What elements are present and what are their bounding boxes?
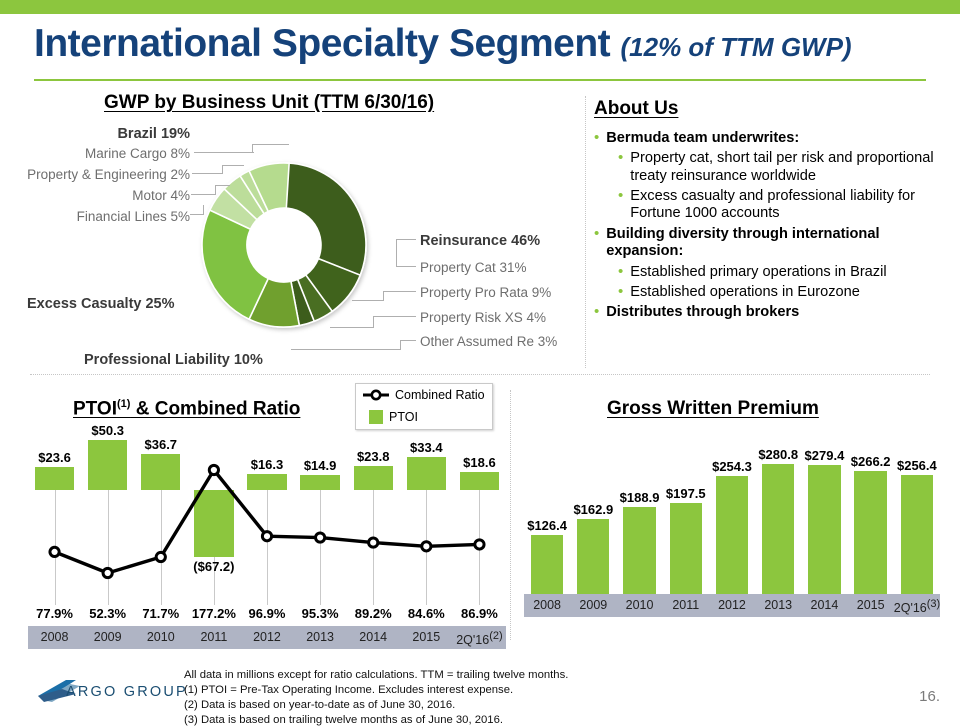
combined-ratio-point bbox=[422, 542, 431, 551]
gwp-bar bbox=[808, 465, 840, 594]
gwp-chart-plot: $126.4$162.9$188.9$197.5$254.3$280.8$279… bbox=[524, 430, 940, 640]
about-bullet-1: •Property cat, short tail per risk and p… bbox=[618, 150, 946, 185]
legend-label-ptoi: PTOI bbox=[389, 410, 418, 424]
combined-ratio-point bbox=[103, 568, 112, 577]
about-bullet-text: Property cat, short tail per risk and pr… bbox=[630, 150, 946, 185]
donut-label-brazil: Brazil 19% bbox=[0, 126, 190, 142]
bullet-dot-icon: • bbox=[594, 304, 599, 321]
ptoi-axis-label: 2013 bbox=[294, 630, 347, 644]
horizontal-divider bbox=[30, 374, 930, 375]
footer-note-1: (1) PTOI = Pre-Tax Operating Income. Exc… bbox=[184, 683, 568, 698]
gwp-axis-label: 2015 bbox=[848, 598, 894, 612]
ptoi-title-plain: PTOI bbox=[73, 398, 117, 419]
about-bullet-3: •Building diversity through internationa… bbox=[594, 226, 946, 261]
vertical-divider-top bbox=[585, 96, 586, 368]
about-us-panel: About Us •Bermuda team underwrites:•Prop… bbox=[594, 98, 946, 325]
bullet-dot-icon: • bbox=[594, 226, 599, 261]
leader-line-other-h2 bbox=[291, 349, 401, 350]
about-bullet-2: •Excess casualty and professional liabil… bbox=[618, 188, 946, 223]
donut-label-marine-cargo: Marine Cargo 8% bbox=[0, 146, 190, 161]
title-underline-rule bbox=[34, 79, 926, 81]
combined-ratio-value-label: 52.3% bbox=[81, 606, 134, 621]
combined-ratio-point bbox=[209, 465, 218, 474]
slide: International Specialty Segment (12% of … bbox=[0, 0, 960, 720]
about-bullet-text: Established operations in Eurozone bbox=[630, 284, 860, 301]
leader-line-reins-v bbox=[396, 239, 398, 267]
leader-line-prorata-v bbox=[383, 291, 385, 300]
page-title-sub: (12% of TTM GWP) bbox=[620, 32, 851, 62]
gwp-chart-title: Gross Written Premium bbox=[607, 398, 819, 420]
bullet-dot-icon: • bbox=[618, 284, 623, 301]
combined-ratio-point bbox=[316, 533, 325, 542]
page-number: 16. bbox=[919, 688, 940, 705]
about-bullet-0: •Bermuda team underwrites: bbox=[594, 130, 946, 147]
donut-label-excess-casualty: Excess Casualty 25% bbox=[27, 296, 175, 312]
about-bullet-text: Excess casualty and professional liabili… bbox=[630, 188, 946, 223]
combined-ratio-value-label: 86.9% bbox=[453, 606, 506, 621]
donut-label-professional-liability: Professional Liability 10% bbox=[84, 352, 263, 368]
gwp-bar bbox=[623, 507, 655, 594]
donut-label-property-engineering: Property & Engineering 2% bbox=[0, 167, 190, 182]
bullet-dot-icon: • bbox=[618, 264, 623, 281]
donut-label-property-pro-rata: Property Pro Rata 9% bbox=[420, 285, 551, 300]
legend-swatch-ptoi bbox=[369, 410, 383, 424]
leader-line-prop-eng-h2 bbox=[222, 165, 244, 166]
leader-line-prorata-h2 bbox=[352, 300, 384, 301]
gwp-bar bbox=[670, 503, 702, 594]
leader-line-riskxs-h2 bbox=[330, 327, 374, 328]
ptoi-chart-title: PTOI(1) & Combined Ratio bbox=[73, 398, 300, 420]
legend-row-combined-ratio: Combined Ratio bbox=[356, 384, 492, 406]
page-title-main: International Specialty Segment bbox=[34, 22, 620, 65]
about-bullet-text: Bermuda team underwrites: bbox=[606, 130, 799, 147]
donut-chart-title: GWP by Business Unit (TTM 6/30/16) bbox=[104, 92, 434, 114]
leader-line-marine bbox=[194, 152, 254, 153]
gwp-axis-label: 2012 bbox=[709, 598, 755, 612]
bullet-dot-icon: • bbox=[618, 150, 623, 185]
footer-note-3: (3) Data is based on trailing twelve mon… bbox=[184, 713, 568, 728]
line-marker-icon bbox=[363, 389, 389, 401]
combined-ratio-value-label: 89.2% bbox=[347, 606, 400, 621]
about-bullet-text: Building diversity through international… bbox=[606, 226, 946, 261]
donut-svg bbox=[186, 145, 386, 350]
top-green-band bbox=[0, 0, 960, 14]
leader-line-motor-v bbox=[215, 185, 217, 195]
leader-line-motor-h2 bbox=[215, 185, 230, 186]
combined-ratio-value-label: 84.6% bbox=[400, 606, 453, 621]
leader-line-financial bbox=[190, 214, 204, 215]
ptoi-title-sup: (1) bbox=[117, 398, 130, 410]
leader-line-riskxs-h bbox=[373, 316, 416, 317]
about-bullet-6: •Distributes through brokers bbox=[594, 304, 946, 321]
ptoi-axis-label: 2015 bbox=[400, 630, 453, 644]
combined-ratio-point bbox=[262, 532, 271, 541]
gwp-bar bbox=[531, 535, 563, 594]
gwp-bar bbox=[901, 475, 933, 594]
combined-ratio-line bbox=[28, 430, 506, 610]
about-bullet-4: •Established primary operations in Brazi… bbox=[618, 264, 946, 281]
gwp-bar bbox=[762, 464, 794, 594]
gwp-axis-label: 2013 bbox=[755, 598, 801, 612]
gwp-bar bbox=[716, 476, 748, 594]
about-us-list: •Bermuda team underwrites:•Property cat,… bbox=[594, 130, 946, 322]
leader-line-marine-h2 bbox=[252, 144, 289, 145]
combined-ratio-value-label: 71.7% bbox=[134, 606, 187, 621]
leader-line-propcat-h bbox=[396, 266, 416, 267]
gwp-axis-label: 2009 bbox=[570, 598, 616, 612]
combined-ratio-point bbox=[50, 547, 59, 556]
about-bullet-5: •Established operations in Eurozone bbox=[618, 284, 946, 301]
gwp-axis-label: 2Q'16(3) bbox=[894, 598, 940, 615]
bullet-dot-icon: • bbox=[594, 130, 599, 147]
ptoi-axis-label: 2012 bbox=[240, 630, 293, 644]
donut-label-financial-lines: Financial Lines 5% bbox=[0, 209, 190, 224]
leader-line-motor bbox=[191, 194, 216, 195]
combined-ratio-point bbox=[156, 552, 165, 561]
ptoi-axis-label: 2008 bbox=[28, 630, 81, 644]
ptoi-axis-label: 2011 bbox=[187, 630, 240, 644]
footer-notes: All data in millions except for ratio ca… bbox=[184, 668, 568, 728]
vertical-divider-bottom bbox=[510, 390, 511, 640]
leader-line-other-h bbox=[400, 340, 416, 341]
gwp-bar-value-label: $279.4 bbox=[801, 448, 847, 463]
about-us-heading: About Us bbox=[594, 98, 946, 120]
gwp-bar-value-label: $256.4 bbox=[894, 458, 940, 473]
leader-line-marine-v bbox=[252, 144, 254, 153]
gwp-axis-label: 2011 bbox=[663, 598, 709, 612]
footer-note-0: All data in millions except for ratio ca… bbox=[184, 668, 568, 683]
about-bullet-text: Distributes through brokers bbox=[606, 304, 799, 321]
donut-label-motor: Motor 4% bbox=[0, 188, 190, 203]
gwp-donut-chart bbox=[186, 145, 386, 350]
combined-ratio-point bbox=[369, 538, 378, 547]
combined-ratio-value-label: 95.3% bbox=[294, 606, 347, 621]
leader-line-other-v bbox=[400, 340, 402, 349]
ptoi-axis-label: 2010 bbox=[134, 630, 187, 644]
gwp-bar-value-label: $254.3 bbox=[709, 459, 755, 474]
donut-label-property-cat: Property Cat 31% bbox=[420, 260, 527, 275]
donut-label-other-assumed-re: Other Assumed Re 3% bbox=[420, 334, 557, 349]
gwp-bar-value-label: $266.2 bbox=[848, 454, 894, 469]
leader-line-riskxs-v bbox=[373, 316, 375, 327]
gwp-bar-value-label: $126.4 bbox=[524, 518, 570, 533]
ptoi-axis-label: 2009 bbox=[81, 630, 134, 644]
gwp-bar-value-label: $280.8 bbox=[755, 447, 801, 462]
combined-ratio-value-label: 177.2% bbox=[187, 606, 240, 621]
about-bullet-text: Established primary operations in Brazil bbox=[630, 264, 886, 281]
combined-ratio-value-label: 77.9% bbox=[28, 606, 81, 621]
leader-line-reins-h bbox=[396, 239, 416, 240]
gwp-bar-value-label: $188.9 bbox=[616, 490, 662, 505]
combined-ratio-value-label: 96.9% bbox=[240, 606, 293, 621]
gwp-bar bbox=[577, 519, 609, 594]
gwp-axis-label: 2010 bbox=[616, 598, 662, 612]
bullet-dot-icon: • bbox=[618, 188, 623, 223]
combined-ratio-point bbox=[475, 540, 484, 549]
gwp-bar-value-label: $162.9 bbox=[570, 502, 616, 517]
ptoi-axis-label: 2014 bbox=[347, 630, 400, 644]
leader-line-prorata-h bbox=[383, 291, 416, 292]
gwp-bar-value-label: $197.5 bbox=[663, 486, 709, 501]
donut-label-property-risk-xs: Property Risk XS 4% bbox=[420, 310, 546, 325]
ptoi-chart-legend: Combined Ratio PTOI bbox=[355, 383, 493, 430]
ptoi-chart-plot: $23.6$50.3$36.7($67.2)$16.3$14.9$23.8$33… bbox=[28, 430, 506, 640]
leader-line-prop-eng-v bbox=[222, 165, 224, 174]
gwp-bar bbox=[854, 471, 886, 594]
ptoi-title-rest: & Combined Ratio bbox=[130, 398, 300, 419]
gwp-axis-label: 2008 bbox=[524, 598, 570, 612]
leader-line-financial-v bbox=[203, 205, 205, 215]
legend-row-ptoi: PTOI bbox=[356, 406, 492, 428]
argo-group-logo-text: ARGO GROUP bbox=[66, 684, 188, 700]
page-title: International Specialty Segment (12% of … bbox=[34, 22, 934, 74]
ptoi-axis-label: 2Q'16(2) bbox=[453, 630, 506, 647]
gwp-axis-label: 2014 bbox=[801, 598, 847, 612]
leader-line-prop-eng bbox=[192, 173, 223, 174]
footer-note-2: (2) Data is based on year-to-date as of … bbox=[184, 698, 568, 713]
donut-label-reinsurance: Reinsurance 46% bbox=[420, 233, 540, 249]
legend-label-combined-ratio: Combined Ratio bbox=[395, 388, 485, 402]
